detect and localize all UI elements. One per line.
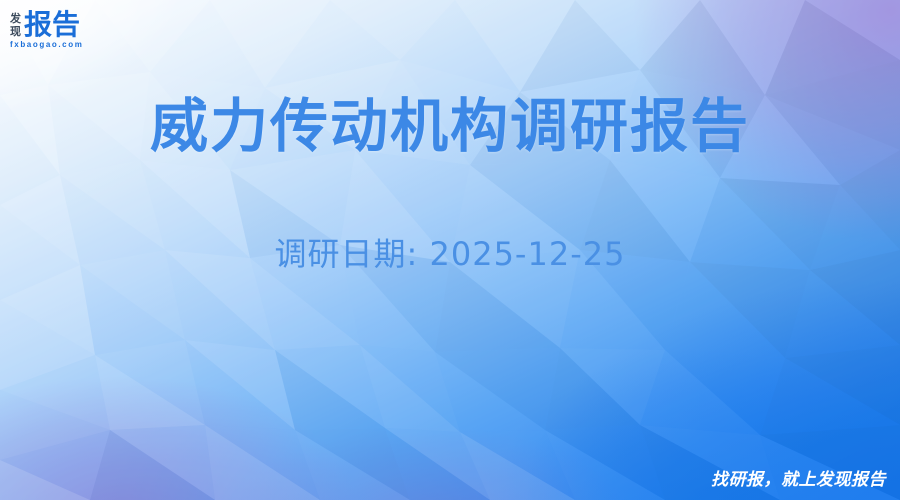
logo-url: fxbaogao.com [10,40,106,49]
logo-char-fa: 发 [10,12,21,25]
logo-wordmark: 报告 [24,11,80,39]
logo-wordmark-row: 发 现 报告 [10,9,106,39]
survey-date-subtitle: 调研日期: 2025-12-25 [0,232,900,276]
title-block: 威力传动机构调研报告 [0,88,900,164]
page-title: 威力传动机构调研报告 [0,88,900,164]
report-cover-slide: 发 现 报告 fxbaogao.com 威力传动机构调研报告 调研日期: 202… [0,0,900,500]
logo-stacked-characters: 发 现 [10,11,21,39]
footer-slogan: 找研报，就上发现报告 [711,468,886,492]
logo-char-xian: 现 [10,25,21,38]
site-logo[interactable]: 发 现 报告 fxbaogao.com [10,9,106,49]
